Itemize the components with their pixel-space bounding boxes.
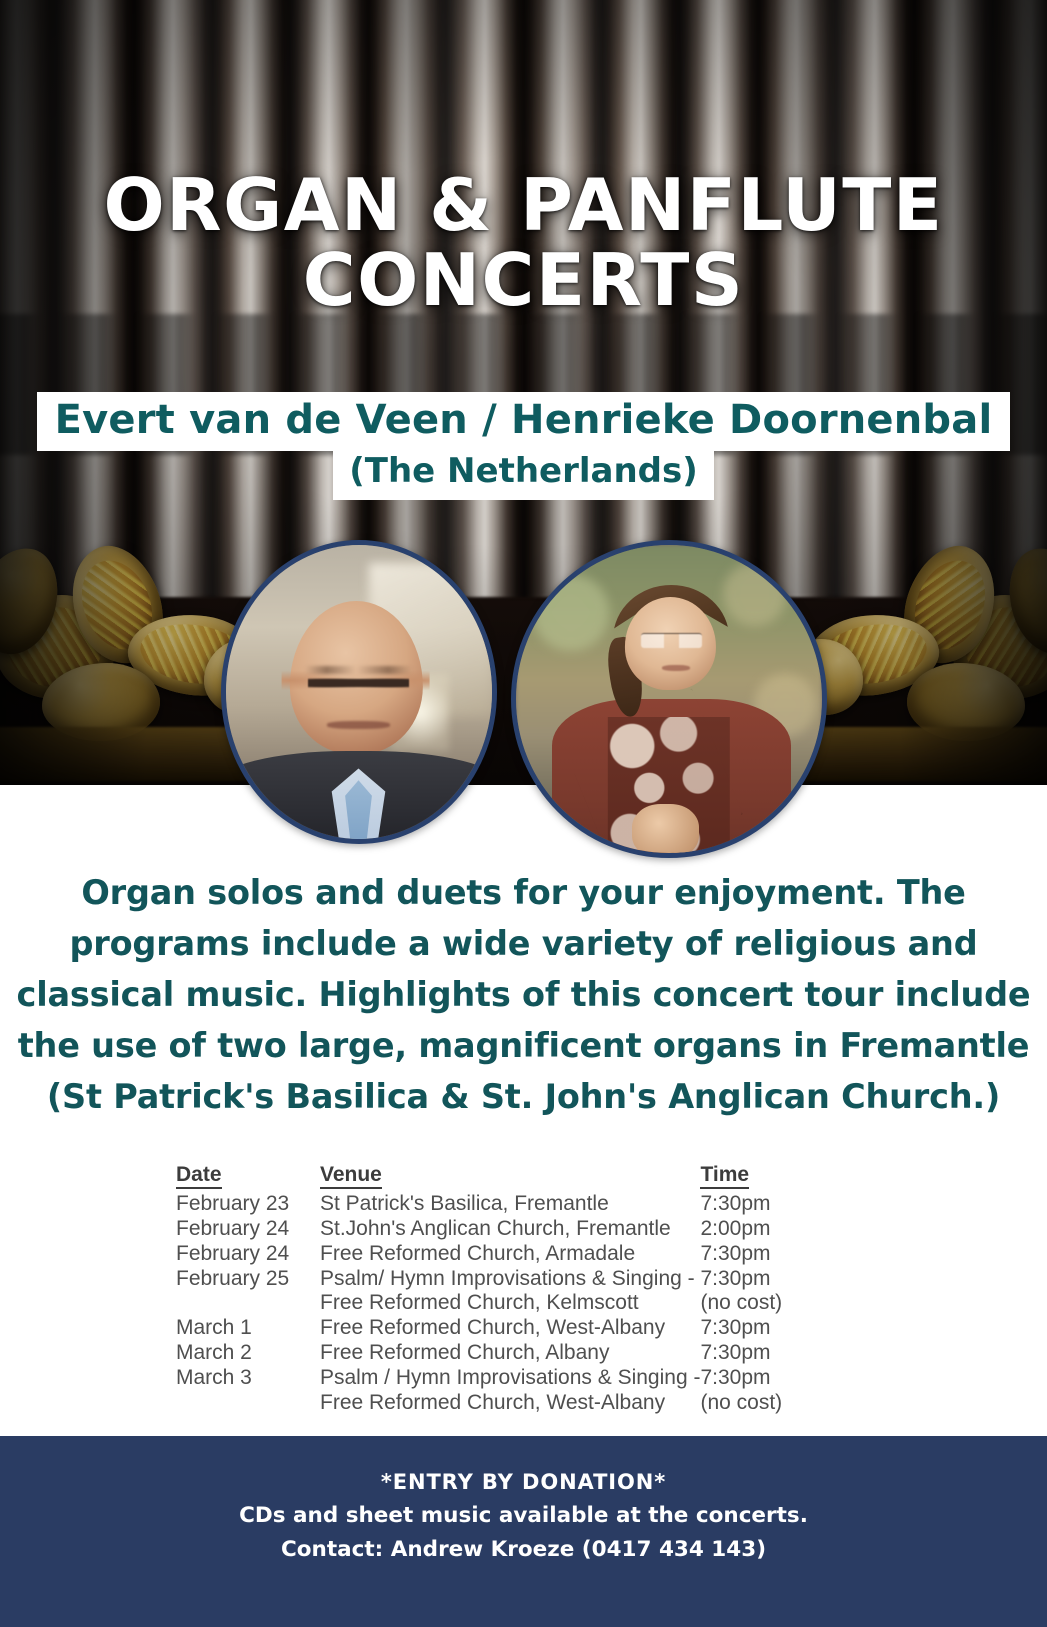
row-date: February 24 — [176, 1217, 320, 1242]
table-row: March 3 Psalm / Hymn Improvisations & Si… — [176, 1366, 876, 1391]
portrait-henrieke-doornenbal — [511, 540, 827, 858]
footer-entry-by-donation: *ENTRY BY DONATION* — [0, 1467, 1047, 1499]
performer-portraits — [0, 540, 1047, 870]
concert-schedule: Date Venue Time February 23 St Patrick's… — [176, 1163, 876, 1415]
row-date: February 24 — [176, 1242, 320, 1267]
schedule-header-date-label: Date — [176, 1163, 222, 1189]
title-line-2: CONCERTS — [0, 243, 1047, 318]
row-venue: Free Reformed Church, Albany — [320, 1341, 700, 1366]
table-row: February 24 Free Reformed Church, Armada… — [176, 1242, 876, 1267]
row-time: (no cost) — [700, 1391, 876, 1416]
row-venue: Psalm / Hymn Improvisations & Singing - — [320, 1366, 700, 1391]
row-date: March 1 — [176, 1316, 320, 1341]
table-row: February 23 St Patrick's Basilica, Frema… — [176, 1192, 876, 1217]
performer-country-banner: (The Netherlands) — [0, 446, 1047, 500]
row-time: 2:00pm — [700, 1217, 876, 1242]
schedule-table: Date Venue Time February 23 St Patrick's… — [176, 1163, 876, 1415]
poster-title: ORGAN & PANFLUTE CONCERTS — [0, 168, 1047, 318]
schedule-body: February 23 St Patrick's Basilica, Frema… — [176, 1192, 876, 1415]
row-date: February 25 — [176, 1267, 320, 1292]
performer-names: Evert van de Veen / Henrieke Doornenbal — [37, 392, 1011, 451]
row-date: February 23 — [176, 1192, 320, 1217]
row-venue: St Patrick's Basilica, Fremantle — [320, 1192, 700, 1217]
row-date: March 2 — [176, 1341, 320, 1366]
row-time: 7:30pm — [700, 1242, 876, 1267]
row-venue: Free Reformed Church, West-Albany — [320, 1316, 700, 1341]
schedule-header-date: Date — [176, 1163, 320, 1192]
row-venue: St.John's Anglican Church, Fremantle — [320, 1217, 700, 1242]
row-date — [176, 1291, 320, 1316]
schedule-header-venue-label: Venue — [320, 1163, 382, 1189]
table-row: Free Reformed Church, Kelmscott (no cost… — [176, 1291, 876, 1316]
row-time: 7:30pm — [700, 1316, 876, 1341]
concert-poster: ORGAN & PANFLUTE CONCERTS Evert van de V… — [0, 0, 1047, 1627]
row-time: 7:30pm — [700, 1341, 876, 1366]
footer-contact: Contact: Andrew Kroeze (0417 434 143) — [0, 1533, 1047, 1568]
performer-names-banner: Evert van de Veen / Henrieke Doornenbal — [0, 392, 1047, 451]
table-row: Free Reformed Church, West-Albany (no co… — [176, 1391, 876, 1416]
title-line-1: ORGAN & PANFLUTE — [0, 168, 1047, 243]
footer-merchandise-note: CDs and sheet music available at the con… — [0, 1499, 1047, 1534]
row-time: 7:30pm — [700, 1192, 876, 1217]
schedule-header-time: Time — [700, 1163, 876, 1192]
row-time: (no cost) — [700, 1291, 876, 1316]
performer-country: (The Netherlands) — [333, 446, 714, 500]
row-time: 7:30pm — [700, 1366, 876, 1391]
schedule-header-time-label: Time — [700, 1163, 749, 1189]
portrait-evert-van-de-veen — [221, 540, 497, 844]
concert-description: Organ solos and duets for your enjoyment… — [0, 868, 1047, 1123]
poster-footer: *ENTRY BY DONATION* CDs and sheet music … — [0, 1436, 1047, 1627]
schedule-header-venue: Venue — [320, 1163, 700, 1192]
row-venue: Free Reformed Church, West-Albany — [320, 1391, 700, 1416]
schedule-header-row: Date Venue Time — [176, 1163, 876, 1192]
table-row: February 24 St.John's Anglican Church, F… — [176, 1217, 876, 1242]
row-venue: Psalm/ Hymn Improvisations & Singing - — [320, 1267, 700, 1292]
row-venue: Free Reformed Church, Armadale — [320, 1242, 700, 1267]
row-venue: Free Reformed Church, Kelmscott — [320, 1291, 700, 1316]
row-date — [176, 1391, 320, 1416]
row-date: March 3 — [176, 1366, 320, 1391]
table-row: February 25 Psalm/ Hymn Improvisations &… — [176, 1267, 876, 1292]
table-row: March 2 Free Reformed Church, Albany 7:3… — [176, 1341, 876, 1366]
table-row: March 1 Free Reformed Church, West-Alban… — [176, 1316, 876, 1341]
row-time: 7:30pm — [700, 1267, 876, 1292]
